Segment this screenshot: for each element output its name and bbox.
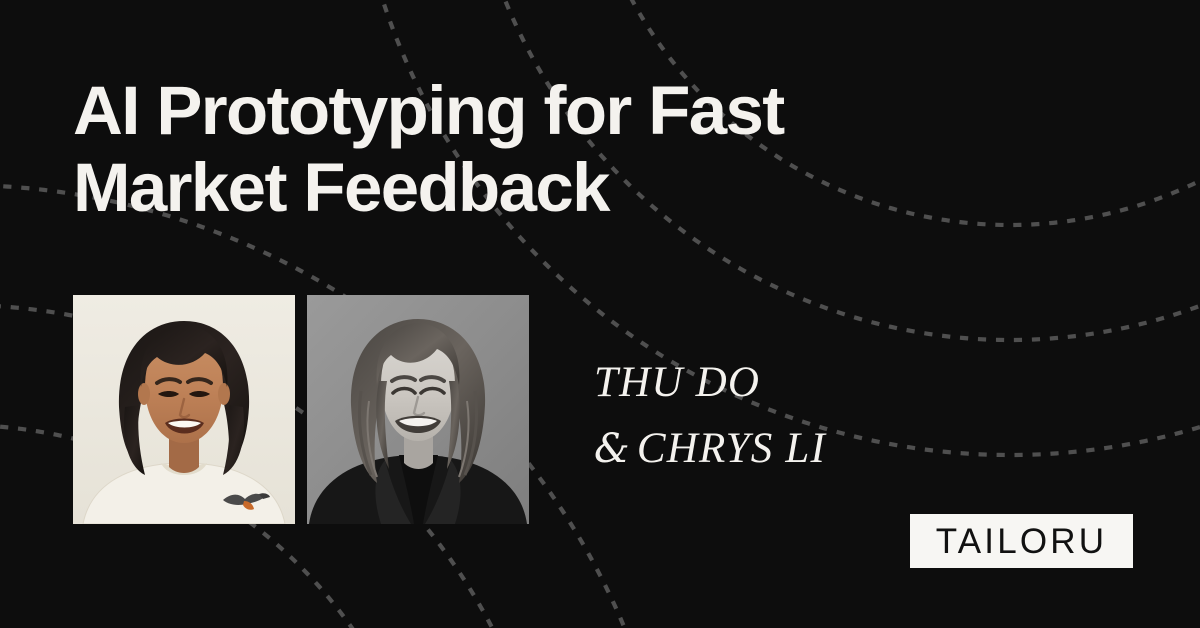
portrait-image-1 xyxy=(73,295,295,524)
page-title: AI Prototyping for Fast Market Feedback xyxy=(73,72,973,226)
speaker-portrait-chrys-li xyxy=(307,295,529,524)
speaker-name-2-row: &CHRYS LI xyxy=(594,416,1014,482)
title-line-1: AI Prototyping for Fast xyxy=(73,72,973,149)
promo-card: AI Prototyping for Fast Market Feedback xyxy=(0,0,1200,628)
speaker-portrait-thu-do xyxy=(73,295,295,524)
brand-logo-text: TAILORU xyxy=(936,524,1108,559)
brand-logo[interactable]: TAILORU xyxy=(910,514,1133,568)
title-line-2: Market Feedback xyxy=(73,149,973,226)
speaker-name-1: THU DO xyxy=(594,350,1014,416)
portrait-image-2 xyxy=(307,295,529,524)
speaker-names: THU DO &CHRYS LI xyxy=(594,350,1014,482)
speaker-name-2: CHRYS LI xyxy=(637,425,826,472)
ampersand-glyph: & xyxy=(594,426,637,472)
